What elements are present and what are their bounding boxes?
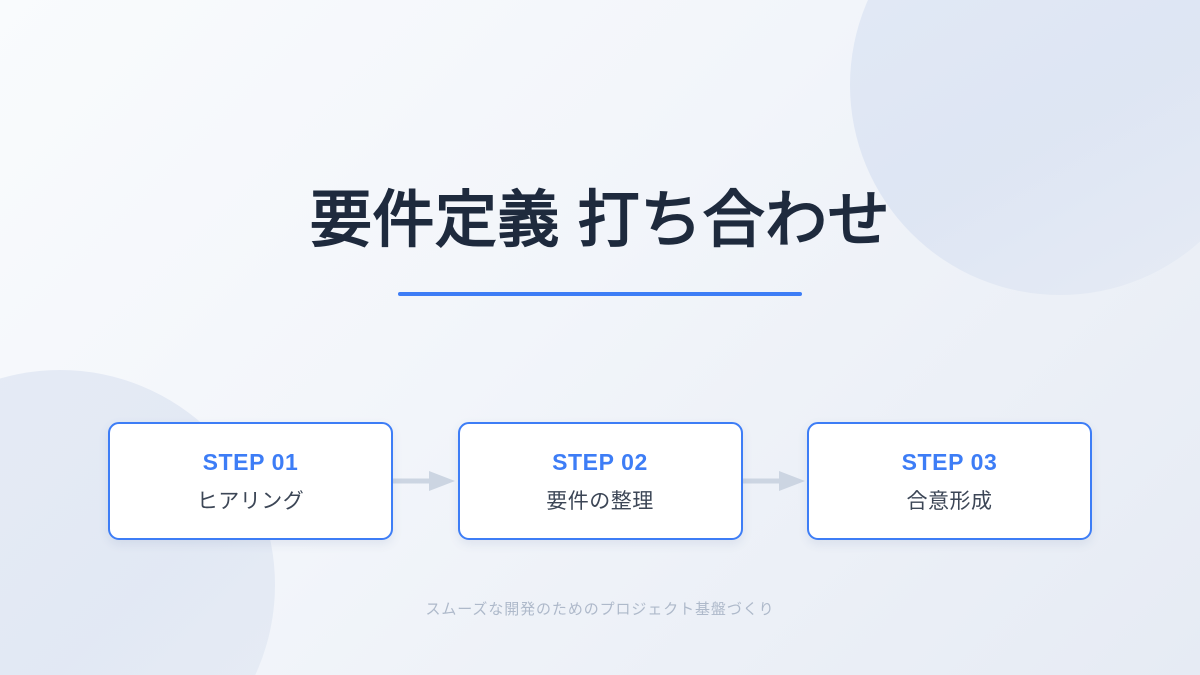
- connector-arrow-1: [393, 469, 458, 493]
- step-card-3[interactable]: STEP 03 合意形成: [807, 422, 1092, 540]
- step-title-label: 要件の整理: [546, 491, 654, 512]
- page-title: 要件定義 打ち合わせ: [0, 186, 1200, 255]
- step-card-1[interactable]: STEP 01 ヒアリング: [108, 422, 393, 540]
- step-number-label: STEP 02: [552, 451, 648, 474]
- footer-caption: スムーズな開発のためのプロジェクト基盤づくり: [0, 598, 1200, 619]
- step-number-label: STEP 03: [902, 451, 998, 474]
- step-title-label: ヒアリング: [197, 491, 305, 512]
- step-flow: STEP 01 ヒアリング STEP 02 要件の整理 STEP 03 合意形成: [108, 420, 1092, 542]
- step-number-label: STEP 01: [203, 451, 299, 474]
- step-title-label: 合意形成: [907, 491, 993, 512]
- step-card-2[interactable]: STEP 02 要件の整理: [458, 422, 743, 540]
- title-block: 要件定義 打ち合わせ: [0, 186, 1200, 296]
- title-underline-accent: [398, 292, 802, 296]
- connector-arrow-2: [743, 469, 808, 493]
- slide-canvas: 要件定義 打ち合わせ STEP 01 ヒアリング STEP 02 要件の整理 S…: [0, 0, 1200, 675]
